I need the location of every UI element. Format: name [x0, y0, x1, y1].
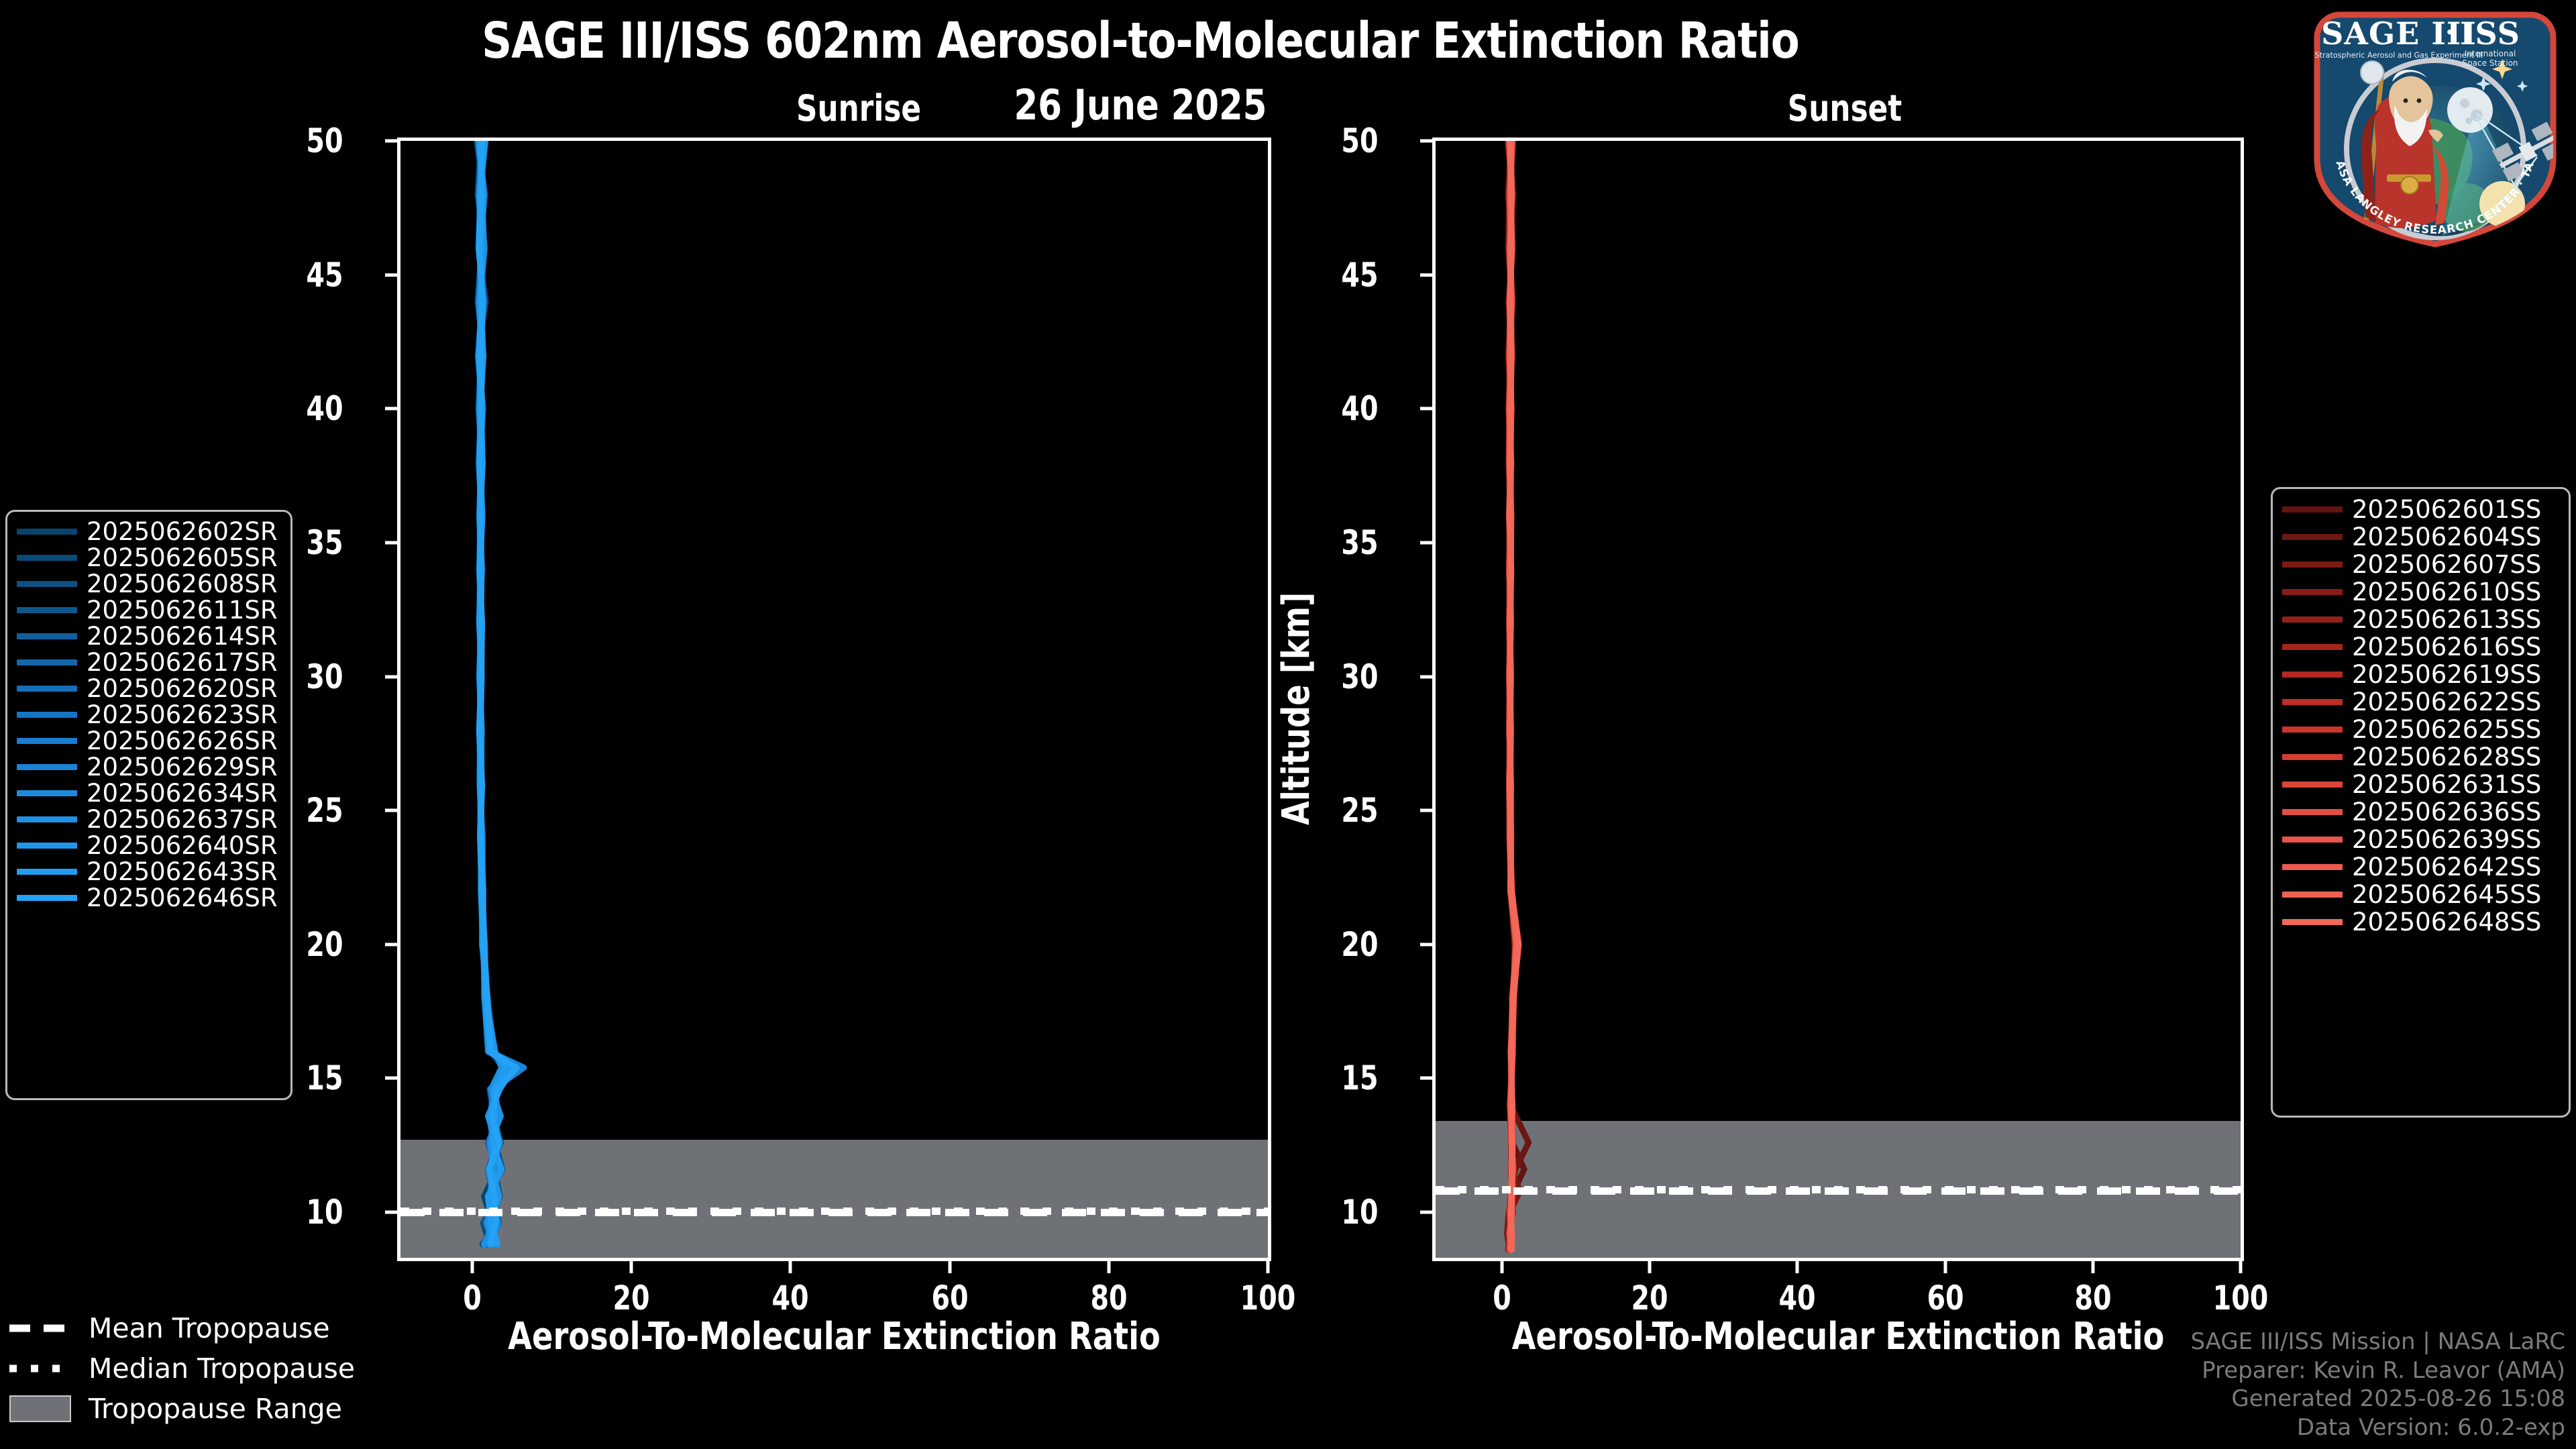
legend-color-swatch — [17, 895, 77, 901]
y-tick-label: 10 — [306, 1193, 377, 1232]
y-tick-mark — [1420, 943, 1432, 946]
dashed-line-icon — [9, 1317, 74, 1340]
x-axis-label: Aerosol-To-Molecular Extinction Ratio — [1391, 1315, 2286, 1358]
legend-item[interactable]: 2025062608SR — [17, 571, 281, 597]
legend-color-swatch — [2282, 644, 2343, 650]
credits-block: SAGE III/ISS Mission | NASA LaRCPreparer… — [2190, 1328, 2565, 1442]
plot-sunset-canvas — [1436, 141, 2241, 1258]
y-tick-mark — [385, 1211, 397, 1214]
legend-sunset[interactable]: 2025062601SS2025062604SS2025062607SS2025… — [2271, 487, 2571, 1118]
y-tick-mark — [1420, 809, 1432, 812]
legend-color-swatch — [2282, 589, 2343, 595]
legend-color-swatch — [2282, 782, 2343, 788]
legend-color-swatch — [2282, 534, 2343, 540]
y-tick-mark — [385, 273, 397, 276]
credits-line: Preparer: Kevin R. Leavor (AMA) — [2190, 1356, 2565, 1385]
legend-item-label: 2025062613SS — [2352, 605, 2541, 634]
legend-item-label: 2025062631SS — [2352, 770, 2541, 799]
y-tick-label: 25 — [1341, 791, 1412, 830]
legend-color-swatch — [17, 816, 77, 822]
y-tick-label: 10 — [1341, 1193, 1412, 1232]
x-tick-mark — [470, 1261, 474, 1273]
legend-item-label: 2025062648SS — [2352, 908, 2541, 936]
legend-color-swatch — [2282, 727, 2343, 733]
legend-item-label: 2025062619SS — [2352, 660, 2541, 689]
legend-item[interactable]: 2025062636SS — [2282, 798, 2559, 826]
plot-sunrise-canvas — [400, 141, 1268, 1258]
legend-item[interactable]: 2025062643SR — [17, 859, 281, 885]
legend-color-swatch — [2282, 672, 2343, 678]
x-tick-label: 100 — [2213, 1279, 2269, 1318]
legend-item[interactable]: 2025062623SR — [17, 702, 281, 728]
page-title: SAGE III/ISS 602nm Aerosol-to-Molecular … — [68, 12, 2212, 70]
y-tick-mark — [385, 541, 397, 544]
legend-item-label: 2025062626SR — [87, 727, 278, 755]
legend-item[interactable]: 2025062639SS — [2282, 826, 2559, 853]
svg-text:Space Station: Space Station — [2462, 58, 2518, 68]
x-tick-label: 20 — [612, 1279, 649, 1318]
x-tick-mark — [630, 1261, 633, 1273]
legend-item[interactable]: 2025062620SR — [17, 676, 281, 702]
svg-text:ISS: ISS — [2460, 15, 2520, 52]
svg-text:Stratospheric Aerosol and Gas: Stratospheric Aerosol and Gas Experiment… — [2315, 51, 2483, 60]
legend-item-label: 2025062628SS — [2352, 743, 2541, 771]
legend-item-label: 2025062616SS — [2352, 633, 2541, 661]
series-layer — [400, 141, 1268, 1258]
legend-item[interactable]: 2025062646SR — [17, 885, 281, 911]
median-tropopause-line — [1436, 1186, 2241, 1193]
tropopause-legend: Mean TropopauseMedian TropopauseTropopau… — [9, 1311, 385, 1432]
legend-color-swatch — [2282, 561, 2343, 568]
x-tick-mark — [1267, 1261, 1270, 1273]
legend-color-swatch — [17, 659, 77, 665]
legend-item[interactable]: 2025062619SS — [2282, 661, 2559, 688]
legend-item-label: 2025062625SS — [2352, 715, 2541, 744]
y-tick-label: 45 — [306, 256, 377, 294]
y-tick-label: 15 — [1341, 1059, 1412, 1097]
legend-item[interactable]: 2025062648SS — [2282, 908, 2559, 936]
legend-item-label: 2025062620SR — [87, 674, 278, 703]
x-tick-mark — [2239, 1261, 2243, 1273]
y-tick-label: 35 — [306, 523, 377, 562]
legend-color-swatch — [17, 581, 77, 587]
legend-color-swatch — [2282, 837, 2343, 843]
legend-color-swatch — [2282, 892, 2343, 898]
legend-item[interactable]: 2025062605SR — [17, 545, 281, 571]
y-tick-mark — [385, 943, 397, 946]
legend-item-label: 2025062623SR — [87, 700, 278, 729]
x-axis-label: Aerosol-To-Molecular Extinction Ratio — [358, 1315, 1311, 1358]
y-tick-label: 50 — [1341, 121, 1412, 160]
legend-item-label: 2025062622SS — [2352, 688, 2541, 716]
x-tick-label: 60 — [931, 1279, 968, 1318]
tropopause-legend-label: Mean Tropopause — [89, 1312, 330, 1344]
y-tick-label: 50 — [306, 121, 377, 160]
legend-color-swatch — [17, 869, 77, 875]
legend-item[interactable]: 2025062634SR — [17, 780, 281, 806]
x-tick-mark — [1107, 1261, 1110, 1273]
legend-item[interactable]: 2025062613SS — [2282, 606, 2559, 633]
legend-item-label: 2025062604SS — [2352, 523, 2541, 551]
legend-item[interactable]: 2025062622SS — [2282, 688, 2559, 716]
tropopause-legend-label: Tropopause Range — [89, 1393, 342, 1425]
y-tick-label: 30 — [1341, 657, 1412, 696]
x-tick-label: 0 — [463, 1279, 482, 1318]
legend-item[interactable]: 2025062645SS — [2282, 881, 2559, 908]
legend-item-label: 2025062617SR — [87, 648, 278, 677]
dotted-line-icon — [9, 1357, 74, 1380]
legend-color-swatch — [17, 843, 77, 849]
legend-color-swatch — [17, 790, 77, 796]
legend-color-swatch — [2282, 864, 2343, 870]
legend-item[interactable]: 2025062626SR — [17, 728, 281, 754]
legend-item[interactable]: 2025062611SR — [17, 597, 281, 623]
tropopause-legend-label: Median Tropopause — [89, 1352, 355, 1385]
y-tick-mark — [1420, 273, 1432, 276]
legend-item-label: 2025062629SR — [87, 753, 278, 782]
legend-color-swatch — [17, 633, 77, 639]
y-tick-mark — [1420, 1077, 1432, 1080]
tropopause-legend-item: Tropopause Range — [9, 1392, 385, 1426]
legend-item[interactable]: 2025062642SS — [2282, 853, 2559, 881]
credits-line: Generated 2025-08-26 15:08 — [2190, 1385, 2565, 1413]
legend-color-swatch — [17, 764, 77, 770]
y-tick-mark — [1420, 541, 1432, 544]
y-tick-mark — [385, 407, 397, 411]
legend-item[interactable]: 2025062625SS — [2282, 716, 2559, 743]
legend-item-label: 2025062607SS — [2352, 550, 2541, 579]
legend-item-label: 2025062645SS — [2352, 880, 2541, 909]
legend-color-swatch — [17, 712, 77, 718]
legend-color-swatch — [2282, 754, 2343, 760]
svg-text:·: · — [2445, 17, 2455, 48]
legend-color-swatch — [2282, 919, 2343, 925]
panel-title-sunrise: Sunrise — [720, 87, 998, 129]
x-tick-mark — [1501, 1261, 1504, 1273]
legend-sunrise[interactable]: 2025062602SR2025062605SR2025062608SR2025… — [5, 510, 292, 1100]
legend-color-swatch — [2282, 506, 2343, 513]
legend-item[interactable]: 2025062628SS — [2282, 743, 2559, 771]
y-tick-label: 40 — [306, 389, 377, 428]
x-tick-label: 80 — [2074, 1279, 2111, 1318]
legend-item[interactable]: 2025062640SR — [17, 833, 281, 859]
legend-color-swatch — [17, 555, 77, 561]
legend-item[interactable]: 2025062617SR — [17, 649, 281, 676]
y-tick-label: 45 — [1341, 256, 1412, 294]
legend-item-label: 2025062639SS — [2352, 825, 2541, 854]
y-tick-mark — [385, 675, 397, 678]
x-tick-label: 20 — [1631, 1279, 1668, 1318]
x-tick-label: 40 — [772, 1279, 809, 1318]
legend-item[interactable]: 2025062616SS — [2282, 633, 2559, 661]
legend-color-swatch — [17, 738, 77, 744]
y-tick-mark — [1420, 675, 1432, 678]
legend-color-swatch — [2282, 699, 2343, 705]
legend-item[interactable]: 2025062637SR — [17, 806, 281, 833]
legend-item-label: 2025062646SR — [87, 883, 278, 912]
legend-item-label: 2025062637SR — [87, 805, 278, 834]
legend-color-swatch — [17, 607, 77, 613]
legend-color-swatch — [2282, 809, 2343, 815]
legend-item-label: 2025062643SR — [87, 857, 278, 886]
legend-item[interactable]: 2025062629SR — [17, 754, 281, 780]
panel-title-sunset: Sunset — [1706, 87, 1984, 129]
legend-item[interactable]: 2025062607SS — [2282, 551, 2559, 578]
x-tick-mark — [789, 1261, 792, 1273]
legend-color-swatch — [17, 686, 77, 692]
legend-item[interactable]: 2025062601SS — [2282, 496, 2559, 523]
x-tick-mark — [948, 1261, 951, 1273]
legend-item-label: 2025062640SR — [87, 831, 278, 860]
legend-item-label: 2025062642SS — [2352, 853, 2541, 881]
y-tick-mark — [385, 140, 397, 143]
legend-color-swatch — [2282, 616, 2343, 623]
legend-item[interactable]: 2025062610SS — [2282, 578, 2559, 606]
legend-item[interactable]: 2025062602SR — [17, 519, 281, 545]
legend-item-label: 2025062602SR — [87, 517, 278, 546]
y-tick-mark — [385, 809, 397, 812]
x-tick-label: 0 — [1493, 1279, 1511, 1318]
x-tick-label: 80 — [1090, 1279, 1127, 1318]
y-tick-label: 15 — [306, 1059, 377, 1097]
legend-item-label: 2025062611SR — [87, 596, 278, 625]
legend-item-label: 2025062636SS — [2352, 798, 2541, 826]
svg-text:International: International — [2465, 49, 2516, 58]
plot-sunset — [1432, 138, 2244, 1261]
legend-item[interactable]: 2025062614SR — [17, 623, 281, 649]
series-layer — [1436, 141, 2241, 1258]
legend-item[interactable]: 2025062631SS — [2282, 771, 2559, 798]
logo-cloud-globe — [2447, 87, 2493, 133]
y-tick-mark — [1420, 140, 1432, 143]
x-tick-mark — [1796, 1261, 1799, 1273]
x-tick-mark — [1943, 1261, 1947, 1273]
y-tick-label: 25 — [306, 791, 377, 830]
tropopause-legend-item: Mean Tropopause — [9, 1311, 385, 1345]
x-tick-mark — [1648, 1261, 1652, 1273]
legend-item[interactable]: 2025062604SS — [2282, 523, 2559, 551]
legend-item-label: 2025062608SR — [87, 570, 278, 598]
y-tick-mark — [1420, 407, 1432, 411]
y-axis-label: Altitude [km] — [1275, 592, 1318, 825]
legend-color-swatch — [17, 529, 77, 535]
y-tick-mark — [385, 1077, 397, 1080]
y-tick-label: 20 — [306, 925, 377, 964]
legend-item-label: 2025062634SR — [87, 779, 278, 808]
x-tick-mark — [2091, 1261, 2094, 1273]
median-tropopause-line — [400, 1207, 1268, 1215]
legend-item-label: 2025062605SR — [87, 543, 278, 572]
legend-item-label: 2025062610SS — [2352, 578, 2541, 606]
y-tick-label: 35 — [1341, 523, 1412, 562]
credits-line: SAGE III/ISS Mission | NASA LaRC — [2190, 1328, 2565, 1356]
x-tick-label: 100 — [1240, 1279, 1296, 1318]
range-band-icon — [9, 1397, 74, 1420]
x-tick-label: 40 — [1779, 1279, 1816, 1318]
legend-item-label: 2025062614SR — [87, 622, 278, 651]
sage-iii-iss-logo: SAGE III · ISS Stratospheric Aerosol and… — [2301, 3, 2569, 252]
y-tick-label: 20 — [1341, 925, 1412, 964]
y-tick-mark — [1420, 1211, 1432, 1214]
x-tick-label: 60 — [1927, 1279, 1964, 1318]
y-tick-label: 30 — [306, 657, 377, 696]
legend-item-label: 2025062601SS — [2352, 495, 2541, 524]
credits-line: Data Version: 6.0.2-exp — [2190, 1413, 2565, 1442]
plot-sunrise — [397, 138, 1271, 1261]
y-tick-label: 40 — [1341, 389, 1412, 428]
tropopause-legend-item: Median Tropopause — [9, 1352, 385, 1385]
